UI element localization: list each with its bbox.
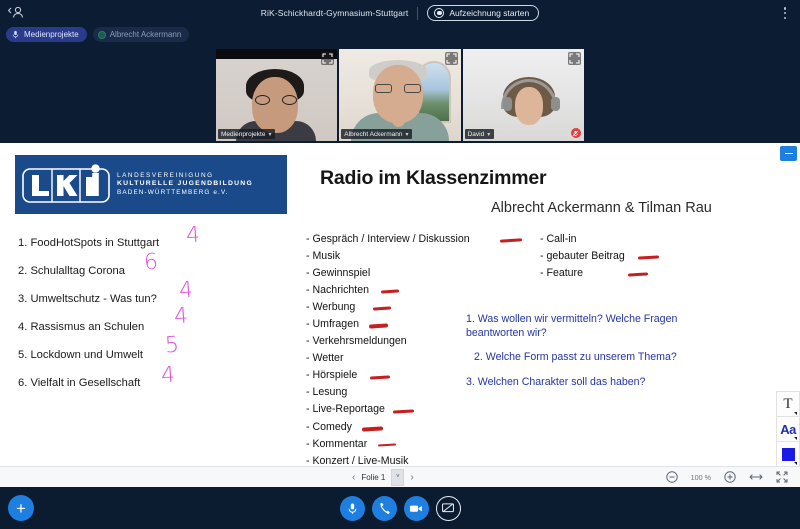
tile-person-earcup-left — [503, 97, 512, 111]
tile-name-label: Medienprojekte — [221, 131, 265, 138]
tool-corner-indicator — [794, 412, 797, 415]
text-tool-icon: T — [783, 396, 792, 413]
slide-footer: ‹ Folie 1 ˅ › 100 % — [0, 466, 800, 487]
microphone-button[interactable] — [340, 496, 365, 521]
format-label: - Lesung — [306, 386, 347, 398]
slide-title: Radio im Klassenzimmer — [320, 167, 546, 190]
zoom-in-icon[interactable] — [724, 471, 736, 483]
format-item: - Musik — [306, 247, 470, 264]
annotation-underline — [370, 375, 390, 379]
topic-label: 6. Vielfalt in Gesellschaft — [18, 377, 140, 389]
expand-arrows-icon[interactable] — [321, 52, 334, 65]
text-tool[interactable]: T — [776, 391, 800, 416]
topic-item: 5. Lockdown und Umwelt 5 — [18, 345, 248, 373]
lkj-logo-line3: BADEN-WÜRTTEMBERG e.V. — [117, 189, 253, 197]
topic-item: 4. Rassismus an Schulen 4 — [18, 317, 248, 345]
format-label: - Kommentar — [306, 438, 367, 450]
topic-list: 1. FoodHotSpots in Stuttgart 4 2. Schula… — [18, 233, 248, 401]
format-item: - Hörspiele — [306, 367, 470, 384]
screenshare-off-icon — [441, 502, 455, 514]
header-divider — [417, 7, 418, 20]
meeting-title: RiK-Schickhardt-Gymnasium-Stuttgart — [261, 8, 409, 18]
tile-person-glasses — [375, 84, 421, 93]
video-tile[interactable]: Medienprojekte ▾ — [216, 49, 337, 141]
annotation-underline — [378, 444, 396, 447]
format-label: - Gespräch / Interview / Diskussion — [306, 233, 470, 245]
topic-label: 1. FoodHotSpots in Stuttgart — [18, 237, 159, 249]
expand-arrows-icon[interactable] — [568, 52, 581, 65]
slide-viewer[interactable]: LANDESVEREINIGUNG KULTURELLE JUGENDBILDU… — [0, 143, 800, 466]
annotation-count: 4 — [160, 363, 176, 389]
lkj-logo-text: LANDESVEREINIGUNG KULTURELLE JUGENDBILDU… — [117, 172, 253, 198]
tile-person-glasses — [254, 95, 298, 105]
format-item: - Umfragen — [306, 315, 470, 332]
format-item: - Wetter — [306, 350, 470, 367]
font-size-tool-icon: Aa — [780, 422, 796, 437]
tile-name-label: Albrecht Ackermann — [344, 131, 402, 138]
annotation-underline — [628, 273, 648, 277]
format-label: - Umfragen — [306, 318, 359, 330]
slide-pager: ‹ Folie 1 ˅ › — [352, 469, 414, 486]
format-item: - Gewinnspiel — [306, 264, 470, 281]
format-item: - Kommentar — [306, 435, 470, 452]
color-picker-tool[interactable] — [776, 441, 800, 466]
meeting-header: RiK-Schickhardt-Gymnasium-Stuttgart Aufz… — [0, 0, 800, 26]
annotation-count: 4 — [185, 223, 201, 249]
tile-name-badge[interactable]: Albrecht Ackermann ▾ — [341, 129, 412, 139]
format-label: - Konzert / Live-Musik — [306, 455, 408, 467]
format-list-right: - Call-in - gebauter Beitrag - Feature — [540, 230, 625, 281]
lkj-logo-mark — [22, 164, 110, 206]
minimize-icon[interactable] — [780, 146, 797, 161]
question-list: 1. Was wollen wir vermitteln? Welche Fra… — [466, 313, 724, 389]
topic-label: 5. Lockdown und Umwelt — [18, 349, 143, 361]
format-label: - Wetter — [306, 352, 343, 364]
camera-icon — [409, 503, 423, 514]
format-label: - Live-Reportage — [306, 403, 385, 415]
tile-person-earcup-right — [551, 97, 560, 111]
format-item: - Live-Reportage — [306, 401, 470, 418]
annotation-underline — [500, 238, 522, 242]
format-item: - Verkehrsmeldungen — [306, 333, 470, 350]
prev-slide-button[interactable]: ‹ — [352, 472, 355, 483]
tile-name-badge[interactable]: Medienprojekte ▾ — [218, 129, 275, 139]
microphone-icon — [346, 502, 359, 515]
tile-person-head — [252, 77, 298, 133]
format-item: - Comedy — [306, 418, 470, 435]
topic-item: 2. Schulalltag Corona 6 — [18, 261, 248, 289]
annotation-underline — [381, 290, 399, 294]
format-item: - gebauter Beitrag — [540, 247, 625, 264]
participant-pill-label: Albrecht Ackermann — [110, 30, 182, 39]
expand-arrows-icon[interactable] — [445, 52, 458, 65]
annotation-count: 5 — [164, 333, 180, 359]
format-item: - Gespräch / Interview / Diskussion — [306, 230, 470, 247]
camera-button[interactable] — [404, 496, 429, 521]
annotation-underline — [362, 426, 383, 431]
headset-button[interactable] — [372, 496, 397, 521]
video-tile[interactable]: David ▾ — [463, 49, 584, 141]
annotation-count: 4 — [178, 278, 194, 304]
annotation-count: 4 — [173, 304, 189, 330]
annotation-underline — [638, 255, 659, 259]
zoom-level-label: 100 % — [691, 473, 711, 482]
format-label: - Werbung — [306, 301, 355, 313]
annotation-count: 6 — [143, 250, 159, 276]
format-label: - Comedy — [306, 421, 352, 433]
format-item: - Lesung — [306, 384, 470, 401]
top-bar: RiK-Schickhardt-Gymnasium-Stuttgart Aufz… — [0, 0, 800, 26]
avatar-dot-icon — [98, 31, 106, 39]
format-label: - Feature — [540, 267, 583, 279]
chevron-down-icon: ▾ — [487, 131, 490, 138]
topic-label: 2. Schulalltag Corona — [18, 265, 125, 277]
participant-pill-idle[interactable]: Albrecht Ackermann — [93, 27, 190, 42]
tile-name-label: David — [468, 131, 485, 138]
microphone-icon — [11, 30, 20, 39]
topic-label: 3. Umweltschutz - Was tun? — [18, 293, 157, 305]
zoom-controls: 100 % — [666, 471, 788, 483]
bottom-bar: + — [0, 487, 800, 529]
chevron-down-icon: ▾ — [405, 131, 408, 138]
topic-item: 1. FoodHotSpots in Stuttgart 4 — [18, 233, 248, 261]
annotation-underline — [393, 409, 414, 413]
call-controls — [0, 487, 800, 529]
format-label: - Gewinnspiel — [306, 267, 370, 279]
format-label: - Call-in — [540, 233, 577, 245]
topic-label: 4. Rassismus an Schulen — [18, 321, 144, 333]
format-label: - gebauter Beitrag — [540, 250, 625, 262]
video-tile-strip: Medienprojekte ▾ Albrecht Ackermann ▾ — [216, 49, 584, 141]
format-item: - Feature — [540, 264, 625, 281]
slide-select-dropdown[interactable]: ˅ — [391, 469, 404, 486]
color-swatch-icon — [782, 448, 795, 461]
annotation-underline — [369, 324, 388, 329]
slide-page-label: Folie 1 — [361, 473, 385, 482]
annotation-underline — [373, 307, 391, 311]
screenshare-button[interactable] — [436, 496, 461, 521]
lkj-logo-line1: LANDESVEREINIGUNG — [117, 172, 253, 180]
question-item: 2. Welche Form passt zu unserem Thema? — [474, 351, 724, 365]
participant-pill-list: Medienprojekte Albrecht Ackermann — [6, 27, 189, 42]
next-slide-button[interactable]: › — [410, 472, 413, 483]
question-item: 1. Was wollen wir vermitteln? Welche Fra… — [466, 313, 724, 340]
format-item: - Call-in — [540, 230, 625, 247]
topic-item: 6. Vielfalt in Gesellschaft 4 — [18, 373, 248, 401]
slide-subtitle: Albrecht Ackermann & Tilman Rau — [491, 200, 712, 216]
conference-app: RiK-Schickhardt-Gymnasium-Stuttgart Aufz… — [0, 0, 800, 529]
microphone-off-icon — [571, 128, 581, 138]
participant-pill-label: Medienprojekte — [24, 30, 79, 39]
format-list-left: - Gespräch / Interview / Diskussion - Mu… — [306, 230, 470, 504]
format-item: - Werbung — [306, 298, 470, 315]
fit-width-icon[interactable] — [749, 472, 763, 482]
participant-pill-speaking[interactable]: Medienprojekte — [6, 27, 87, 42]
topic-item: 3. Umweltschutz - Was tun? 4 — [18, 289, 248, 317]
fullscreen-icon[interactable] — [776, 471, 788, 483]
format-label: - Nachrichten — [306, 284, 369, 296]
format-label: - Verkehrsmeldungen — [306, 335, 407, 347]
format-label: - Musik — [306, 250, 340, 262]
tile-name-badge[interactable]: David ▾ — [465, 129, 495, 139]
kebab-menu-icon[interactable] — [778, 5, 792, 21]
question-item: 3. Welchen Charakter soll das haben? — [466, 376, 724, 390]
font-size-tool[interactable]: Aa — [776, 416, 800, 441]
format-label: - Hörspiele — [306, 369, 357, 381]
format-item: - Nachrichten — [306, 281, 470, 298]
tool-corner-indicator — [794, 437, 797, 440]
lkj-logo: LANDESVEREINIGUNG KULTURELLE JUGENDBILDU… — [15, 155, 287, 214]
lkj-logo-line2: KULTURELLE JUGENDBILDUNG — [117, 180, 253, 189]
tool-corner-indicator — [794, 462, 797, 465]
headset-icon — [378, 502, 391, 515]
start-recording-label: Aufzeichnung starten — [449, 8, 529, 18]
start-recording-button[interactable]: Aufzeichnung starten — [427, 5, 539, 21]
video-tile[interactable]: Albrecht Ackermann ▾ — [339, 49, 460, 141]
chevron-down-icon: ▾ — [268, 131, 271, 138]
record-dot-icon — [434, 8, 444, 18]
zoom-out-icon[interactable] — [666, 471, 678, 483]
